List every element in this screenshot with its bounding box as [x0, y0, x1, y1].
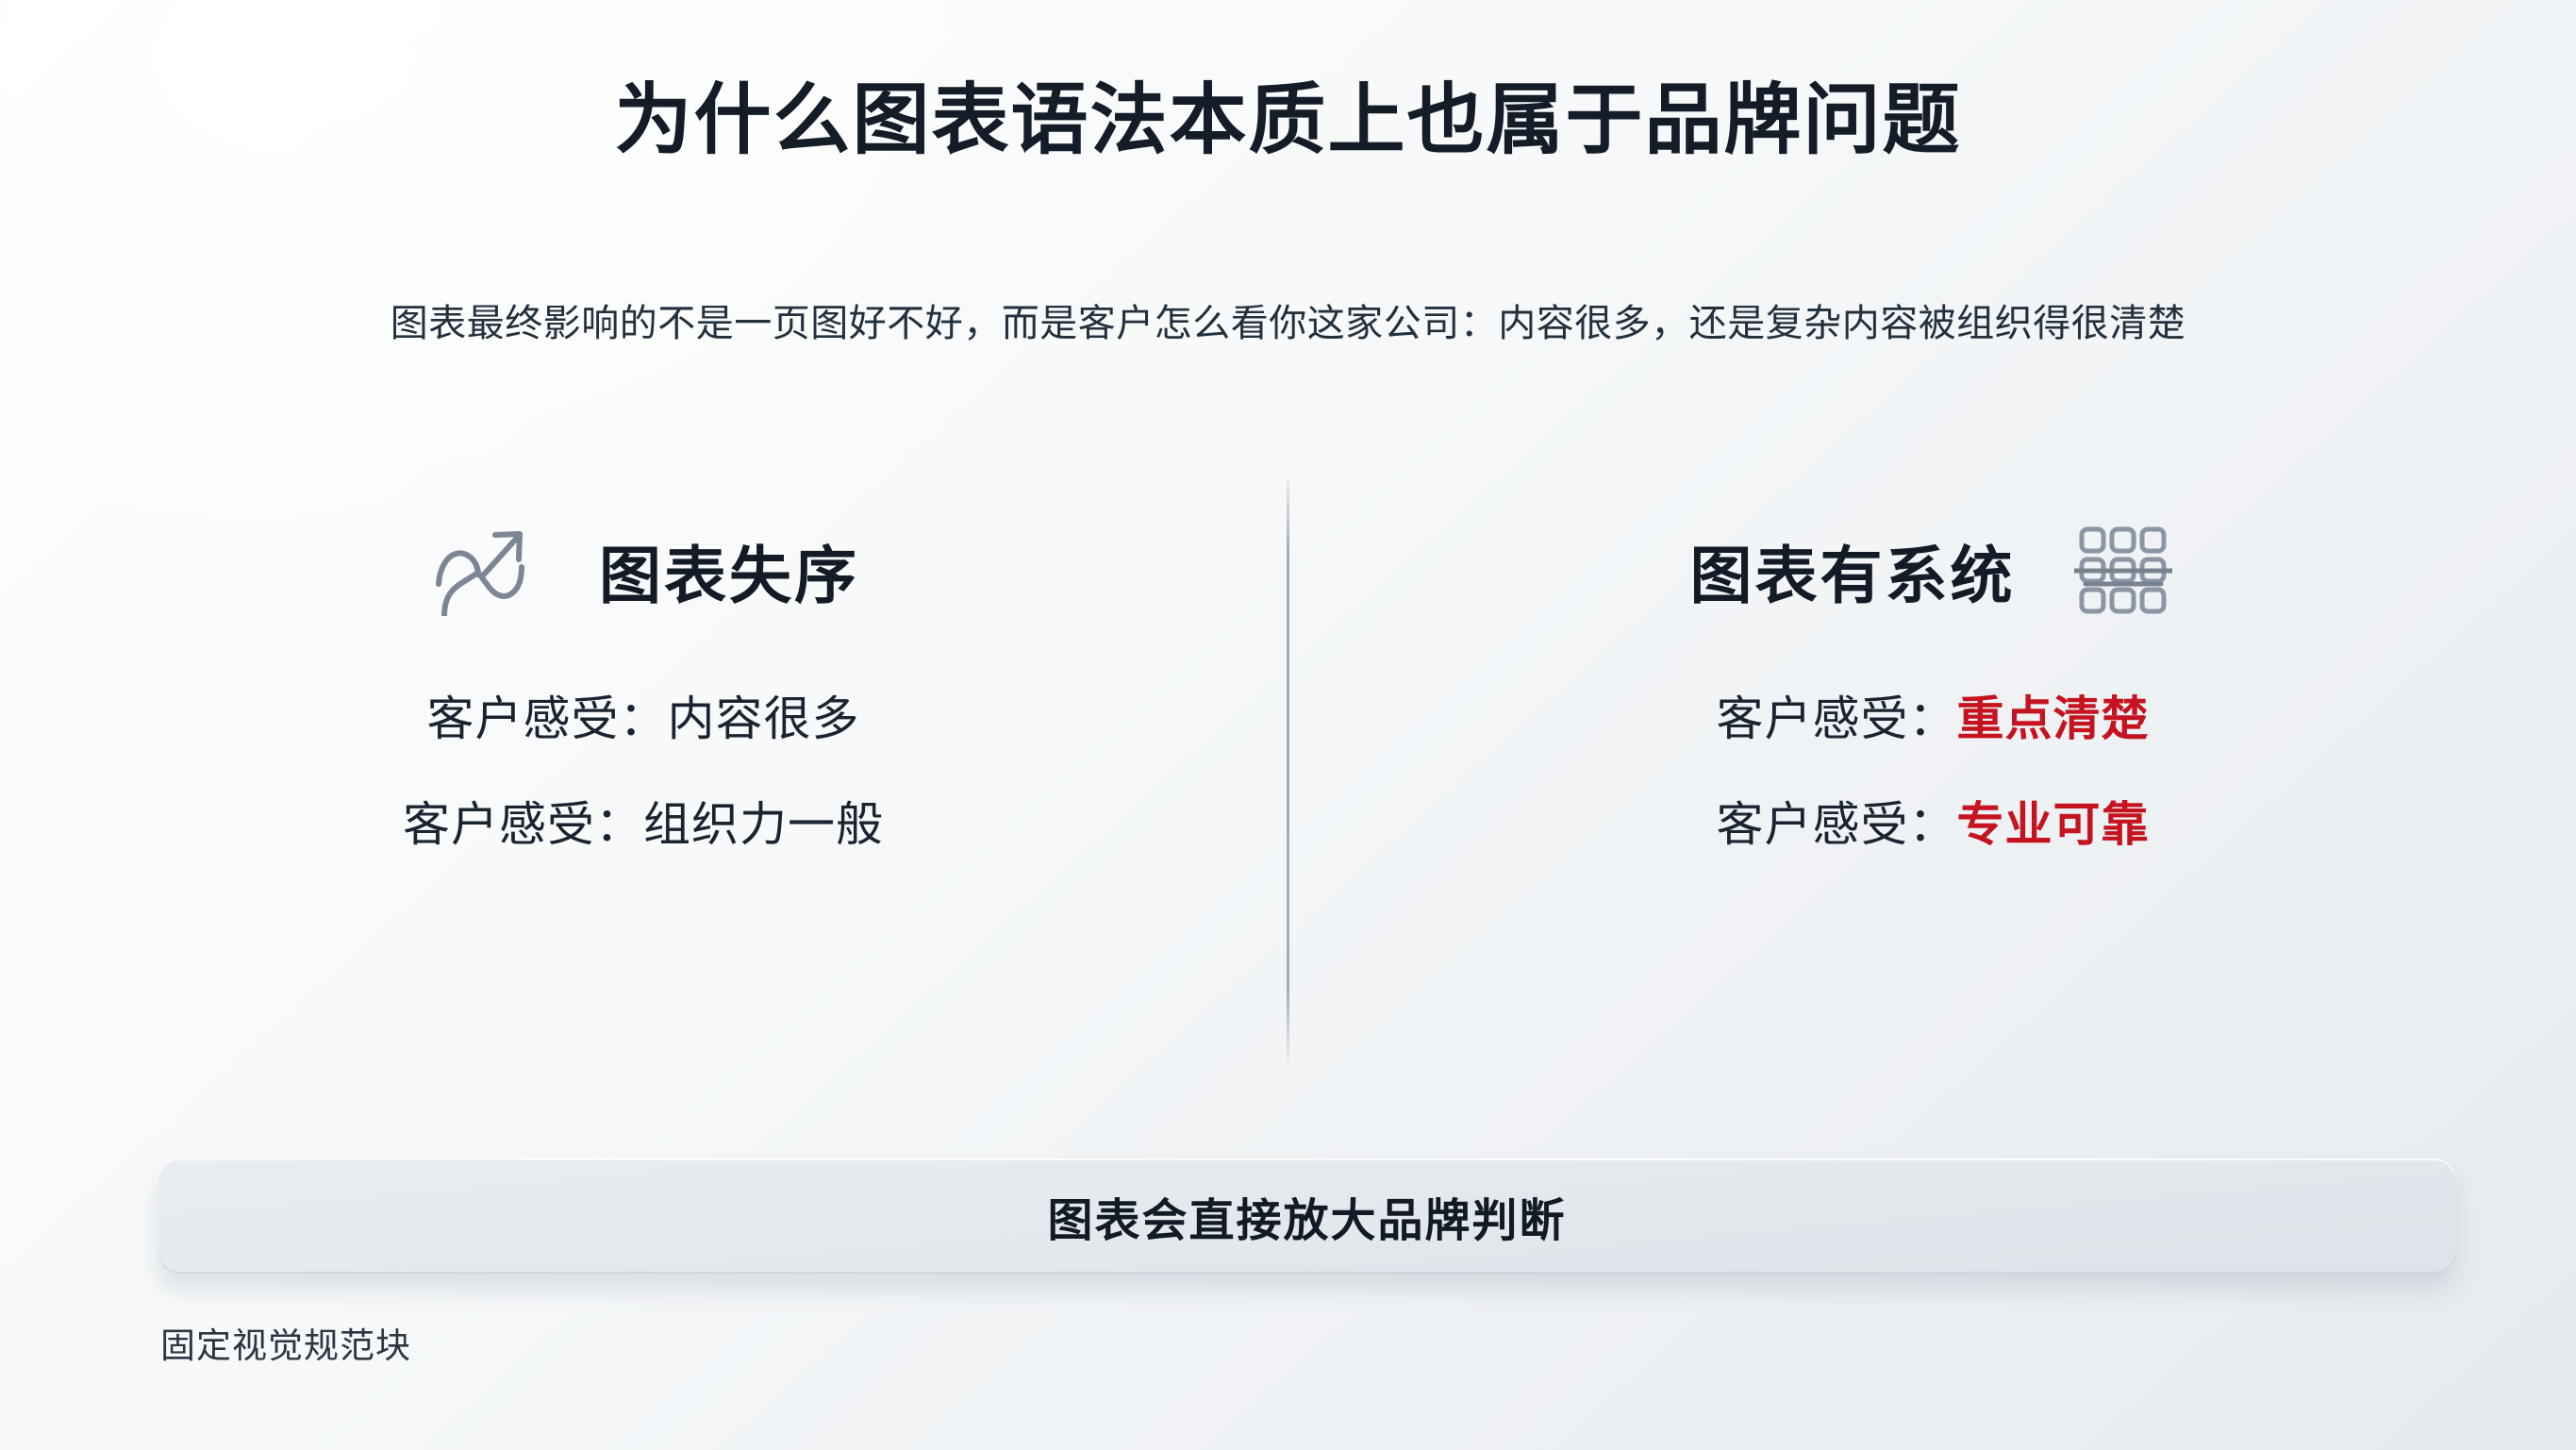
- summary-banner: 图表会直接放大品牌判断: [158, 1158, 2455, 1274]
- footnote: 固定视觉规范块: [160, 1317, 411, 1368]
- grid-layout-icon: [2070, 522, 2176, 620]
- column-heading-right: 图表有系统: [1690, 525, 2016, 616]
- column-header-left: 图表失序: [0, 514, 1287, 627]
- comparison-section: 图表失序 客户感受： 内容很多 客户感受： 组织力一般 图表有系统: [0, 476, 2576, 1061]
- row-label: 客户感受：: [1717, 692, 1957, 747]
- column-heading-left: 图表失序: [599, 525, 859, 616]
- row-value: 专业可靠: [1957, 797, 2150, 853]
- squiggly-trend-arrow-icon: [427, 522, 533, 620]
- list-item: 客户感受： 专业可靠: [1289, 797, 2576, 903]
- list-item: 客户感受： 内容很多: [0, 692, 1287, 797]
- page-subtitle: 图表最终影响的不是一页图好不好，而是客户怎么看你这家公司：内容很多，还是复杂内容…: [0, 300, 2576, 347]
- slide-root: 为什么图表语法本质上也属于品牌问题 图表最终影响的不是一页图好不好，而是客户怎么…: [0, 0, 2576, 1450]
- column-chart-disorder: 图表失序 客户感受： 内容很多 客户感受： 组织力一般: [0, 476, 1287, 1061]
- row-value: 内容很多: [668, 692, 860, 747]
- column-header-right: 图表有系统: [1289, 514, 2576, 627]
- list-item: 客户感受： 重点清楚: [1289, 692, 2576, 797]
- page-title: 为什么图表语法本质上也属于品牌问题: [0, 79, 2576, 163]
- row-label: 客户感受：: [1717, 797, 1957, 853]
- row-value: 组织力一般: [643, 797, 884, 853]
- list-item: 客户感受： 组织力一般: [0, 797, 1287, 903]
- column-chart-system: 图表有系统: [1289, 476, 2576, 1061]
- summary-banner-text: 图表会直接放大品牌判断: [1047, 1183, 1566, 1249]
- rows-right: 客户感受： 重点清楚 客户感受： 专业可靠: [1289, 692, 2576, 903]
- row-label: 客户感受：: [403, 797, 643, 853]
- row-label: 客户感受：: [427, 692, 668, 747]
- rows-left: 客户感受： 内容很多 客户感受： 组织力一般: [0, 692, 1287, 903]
- row-value: 重点清楚: [1957, 692, 2150, 747]
